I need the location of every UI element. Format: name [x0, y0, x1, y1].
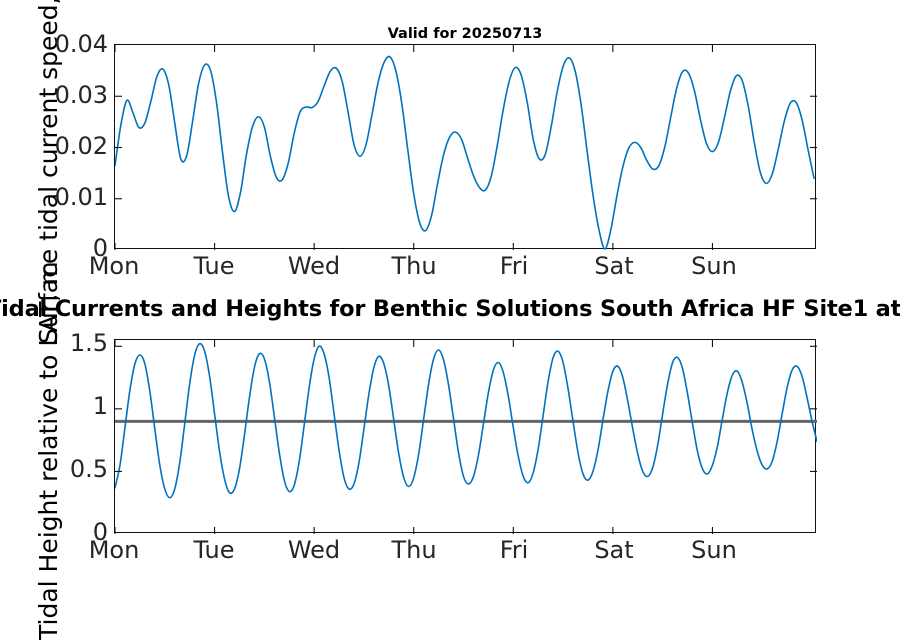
bottom-xtick-label: Mon	[89, 536, 140, 564]
top-xtick-label: Fri	[500, 252, 529, 280]
bottom-xtick-label: Wed	[288, 536, 340, 564]
top-chart-plot-area	[114, 44, 816, 249]
top-xtick-label: Mon	[89, 252, 140, 280]
top-chart-subtitle: Valid for 20250713	[388, 26, 543, 42]
top-xtick-label: Sat	[594, 252, 633, 280]
bottom-xtick-label: Sun	[691, 536, 737, 564]
top-ytick-label: 0.02	[10, 132, 108, 160]
top-ytick-label: 0.04	[10, 30, 108, 58]
top-ytick-label: 0.03	[10, 81, 108, 109]
top-xtick-label: Sun	[691, 252, 737, 280]
bottom-ytick-label: 0.5	[10, 455, 108, 483]
bottom-xtick-label: Fri	[500, 536, 529, 564]
top-ytick-label: 0.01	[10, 183, 108, 211]
bottom-chart-plot-area	[114, 339, 816, 533]
bottom-xtick-label: Sat	[594, 536, 633, 564]
bottom-ytick-label: 1	[10, 392, 108, 420]
bottom-xtick-label: Thu	[391, 536, 436, 564]
bottom-ytick-label: 1.5	[10, 329, 108, 357]
bottom-xtick-label: Tue	[194, 536, 235, 564]
top-xtick-label: Wed	[288, 252, 340, 280]
page-title: Tidal Currents and Heights for Benthic S…	[0, 296, 900, 322]
top-xtick-label: Thu	[391, 252, 436, 280]
top-xtick-label: Tue	[194, 252, 235, 280]
